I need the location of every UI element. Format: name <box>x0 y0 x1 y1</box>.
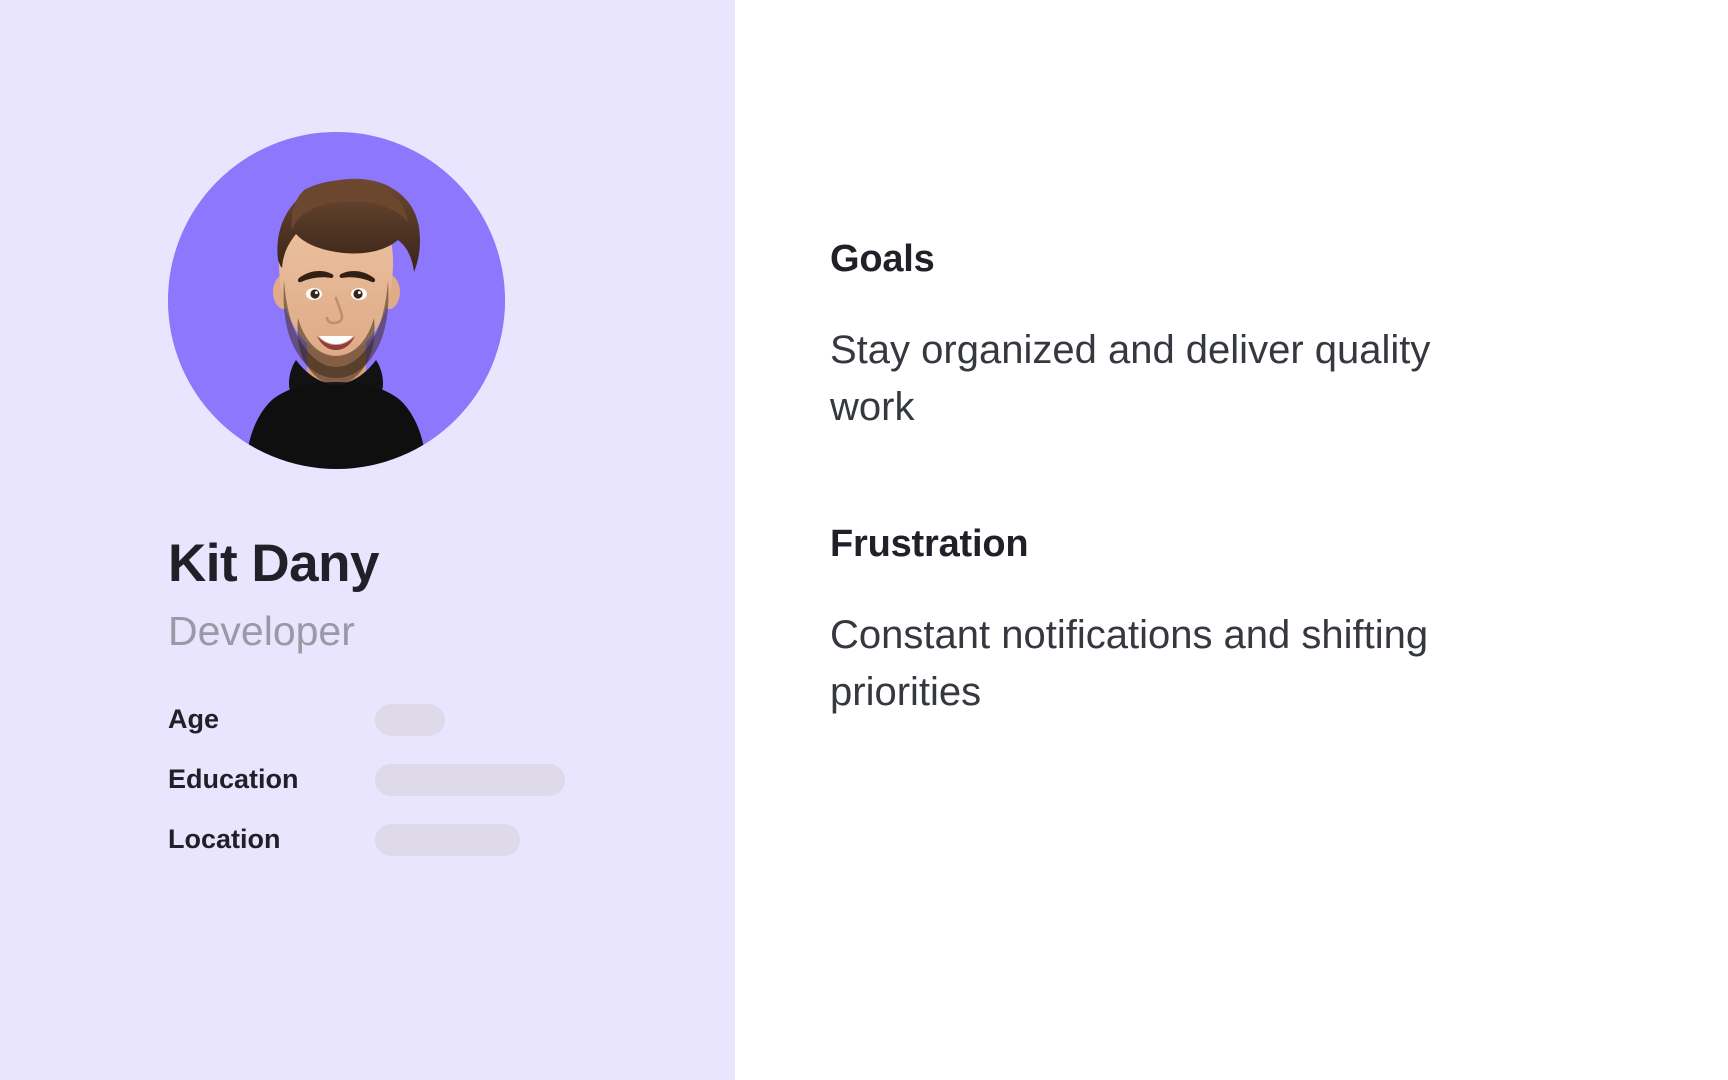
section-title-goals: Goals <box>830 240 1728 280</box>
persona-card: Kit Dany Developer Age Education Locatio… <box>0 0 1728 1080</box>
attribute-value-placeholder-education <box>375 764 565 796</box>
attribute-label-education: Education <box>168 766 375 793</box>
section-body-goals: Stay organized and deliver quality work <box>830 322 1450 436</box>
profile-panel: Kit Dany Developer Age Education Locatio… <box>0 0 735 1080</box>
attribute-row-location: Location <box>168 821 735 859</box>
attribute-label-location: Location <box>168 826 375 853</box>
attribute-list: Age Education Location <box>168 701 735 859</box>
section-title-frustration: Frustration <box>830 525 1728 565</box>
attribute-row-education: Education <box>168 761 735 799</box>
details-panel: Goals Stay organized and deliver quality… <box>735 0 1728 1080</box>
persona-role: Developer <box>168 610 735 653</box>
attribute-label-age: Age <box>168 706 375 733</box>
user-photo-avatar-icon <box>168 132 505 469</box>
section-goals: Goals Stay organized and deliver quality… <box>830 240 1728 435</box>
attribute-value-placeholder-location <box>375 824 520 856</box>
avatar <box>168 132 505 469</box>
attribute-value-placeholder-age <box>375 704 445 736</box>
attribute-row-age: Age <box>168 701 735 739</box>
persona-name: Kit Dany <box>168 536 735 592</box>
section-frustration: Frustration Constant notifications and s… <box>830 525 1728 720</box>
section-body-frustration: Constant notifications and shifting prio… <box>830 607 1450 721</box>
